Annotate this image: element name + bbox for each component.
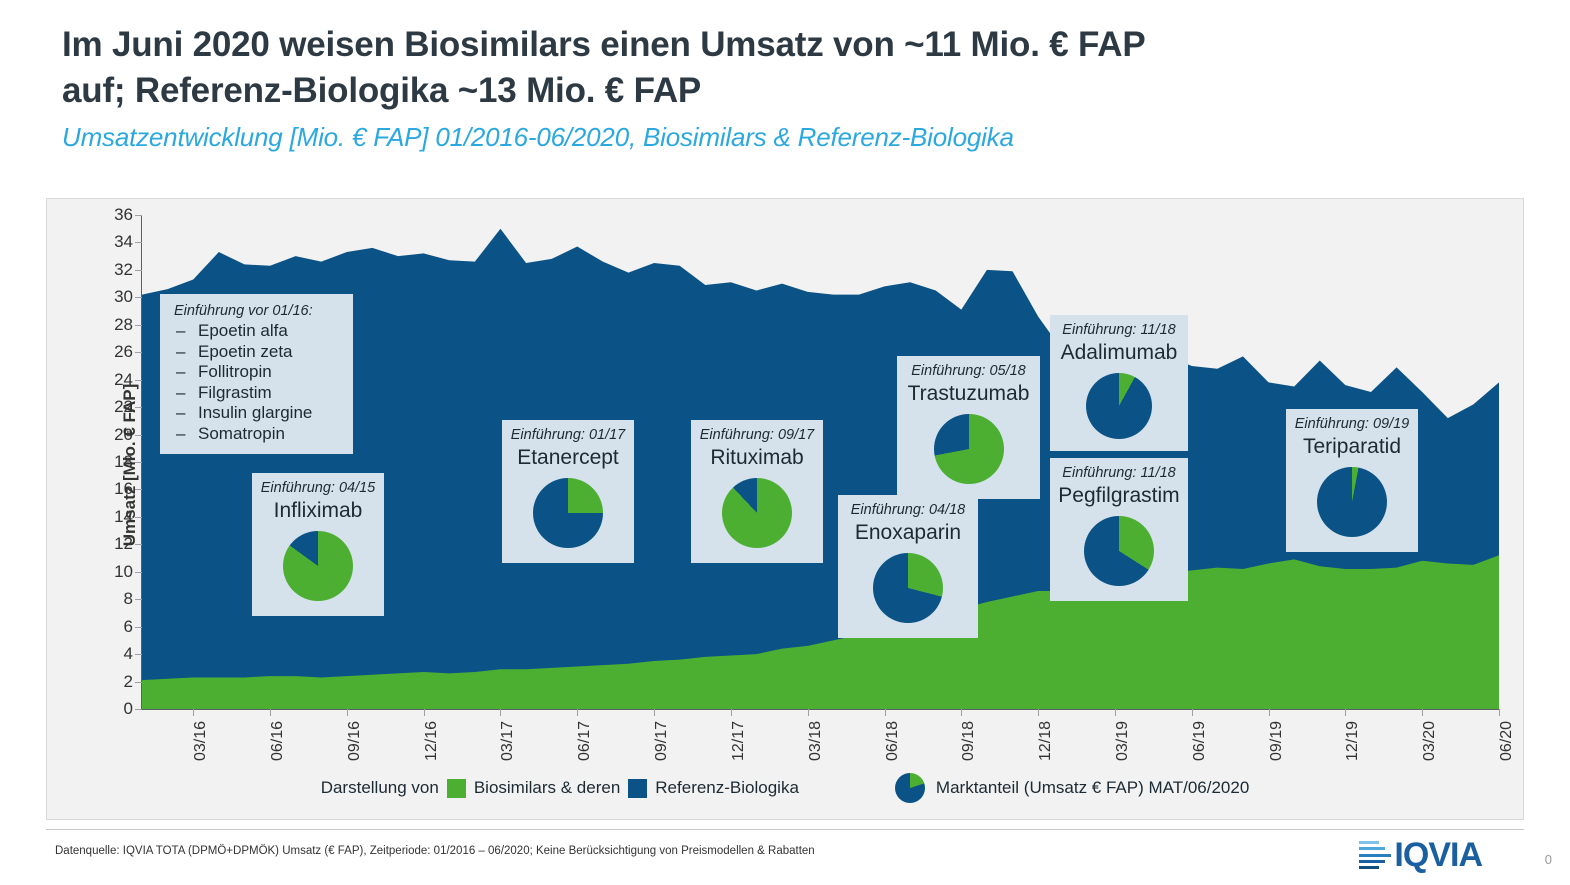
list-item: Epoetin alfa bbox=[174, 321, 339, 342]
x-tick-mark bbox=[1499, 709, 1500, 716]
callout-intro: Einführung: 11/18 bbox=[1062, 322, 1175, 339]
x-tick-label: 03/18 bbox=[807, 721, 825, 761]
y-tick-mark bbox=[135, 599, 142, 600]
x-tick-label: 06/19 bbox=[1191, 721, 1209, 761]
logo-bars-icon bbox=[1359, 840, 1391, 871]
callout-drug-name: Infliximab bbox=[274, 498, 363, 523]
callout-infliximab: Einführung: 04/15Infliximab bbox=[252, 473, 384, 616]
x-tick-label: 03/16 bbox=[192, 721, 210, 761]
y-tick-label: 26 bbox=[114, 342, 133, 362]
x-tick-mark bbox=[347, 709, 348, 716]
market-share-pie-icon bbox=[1084, 516, 1154, 586]
x-tick-label: 09/16 bbox=[346, 721, 364, 761]
x-tick-label: 12/17 bbox=[730, 721, 748, 761]
callout-teriparatid: Einführung: 09/19Teriparatid bbox=[1286, 409, 1418, 552]
legend-label-reference: Referenz-Biologika bbox=[655, 778, 799, 798]
y-tick-mark bbox=[135, 380, 142, 381]
y-tick-label: 14 bbox=[114, 507, 133, 527]
callout-intro: Einführung: 09/17 bbox=[700, 427, 814, 444]
list-item: Epoetin zeta bbox=[174, 342, 339, 363]
list-item: Follitropin bbox=[174, 362, 339, 383]
callout-adalimumab: Einführung: 11/18Adalimumab bbox=[1050, 315, 1188, 451]
callout-intro: Einführung: 09/19 bbox=[1295, 416, 1409, 433]
x-tick-label: 03/17 bbox=[499, 721, 517, 761]
legend-label-marketshare: Marktanteil (Umsatz € FAP) MAT/06/2020 bbox=[936, 778, 1249, 798]
y-tick-label: 24 bbox=[114, 370, 133, 390]
y-tick-mark bbox=[135, 270, 142, 271]
iqvia-logo: IQVIA bbox=[1359, 838, 1482, 872]
legend-prefix: Darstellung von bbox=[321, 778, 439, 798]
y-tick-label: 28 bbox=[114, 315, 133, 335]
callout-drug-name: Teriparatid bbox=[1303, 434, 1401, 459]
x-tick-mark bbox=[654, 709, 655, 716]
x-tick-mark bbox=[1038, 709, 1039, 716]
callout-drug-name: Enoxaparin bbox=[855, 520, 961, 545]
callout-trastuzumab: Einführung: 05/18Trastuzumab bbox=[897, 356, 1040, 499]
y-tick-mark bbox=[135, 654, 142, 655]
y-tick-mark bbox=[135, 325, 142, 326]
market-share-pie-icon bbox=[283, 531, 353, 601]
y-tick-label: 36 bbox=[114, 205, 133, 225]
page-subtitle: Umsatzentwicklung [Mio. € FAP] 01/2016-0… bbox=[62, 122, 1522, 153]
y-tick-mark bbox=[135, 435, 142, 436]
callout-drug-name: Pegfilgrastim bbox=[1058, 483, 1179, 508]
y-tick-label: 2 bbox=[124, 672, 133, 692]
x-tick-mark bbox=[1345, 709, 1346, 716]
callout-pegfilgrastim: Einführung: 11/18Pegfilgrastim bbox=[1050, 458, 1188, 601]
x-tick-mark bbox=[961, 709, 962, 716]
x-tick-mark bbox=[1192, 709, 1193, 716]
y-tick-label: 16 bbox=[114, 479, 133, 499]
callout-intro: Einführung: 11/18 bbox=[1062, 465, 1175, 482]
page-title: Im Juni 2020 weisen Biosimilars einen Um… bbox=[62, 22, 1522, 114]
x-tick-label: 06/16 bbox=[269, 721, 287, 761]
y-tick-label: 30 bbox=[114, 287, 133, 307]
y-tick-label: 10 bbox=[114, 562, 133, 582]
list-item: Insulin glargine bbox=[174, 403, 339, 424]
callout-intro: Einführung: 04/15 bbox=[261, 480, 375, 497]
y-tick-mark bbox=[135, 627, 142, 628]
callout-drug-name: Adalimumab bbox=[1061, 340, 1178, 365]
y-tick-mark bbox=[135, 407, 142, 408]
x-tick-label: 09/18 bbox=[960, 721, 978, 761]
market-share-pie-icon bbox=[873, 553, 943, 623]
x-tick-label: 12/18 bbox=[1037, 721, 1055, 761]
footer-source-note: Datenquelle: IQVIA TOTA (DPMÖ+DPMÖK) Ums… bbox=[55, 845, 815, 857]
market-share-pie-icon bbox=[1086, 373, 1152, 439]
x-tick-mark bbox=[885, 709, 886, 716]
x-tick-mark bbox=[1269, 709, 1270, 716]
y-tick-mark bbox=[135, 709, 142, 710]
callout-enoxaparin: Einführung: 04/18Enoxaparin bbox=[838, 495, 978, 638]
list-item: Filgrastim bbox=[174, 383, 339, 404]
x-tick-mark bbox=[1422, 709, 1423, 716]
legend-swatch-reference bbox=[628, 779, 647, 798]
callout-rituximab: Einführung: 09/17Rituximab bbox=[691, 420, 823, 563]
market-share-pie-icon bbox=[533, 478, 603, 548]
x-tick-label: 06/20 bbox=[1498, 721, 1516, 761]
x-tick-label: 06/18 bbox=[884, 721, 902, 761]
x-tick-label: 03/20 bbox=[1421, 721, 1439, 761]
y-tick-mark bbox=[135, 682, 142, 683]
legend-swatch-biosimilars bbox=[447, 779, 466, 798]
market-share-pie-icon bbox=[934, 414, 1004, 484]
y-tick-label: 6 bbox=[124, 617, 133, 637]
callout-intro: Einführung: 01/17 bbox=[511, 427, 625, 444]
pie-chart-icon bbox=[895, 773, 925, 803]
chart-panel: Umsatz [Mio. € FAP] Einführung vor 01/16… bbox=[46, 198, 1524, 820]
x-tick-mark bbox=[577, 709, 578, 716]
market-share-pie-icon bbox=[722, 478, 792, 548]
logo-wordmark: IQVIA bbox=[1394, 838, 1482, 872]
x-tick-mark bbox=[808, 709, 809, 716]
header: Im Juni 2020 weisen Biosimilars einen Um… bbox=[62, 22, 1522, 154]
y-tick-mark bbox=[135, 462, 142, 463]
legend-marketshare-group: Marktanteil (Umsatz € FAP) MAT/06/2020 bbox=[895, 773, 1249, 803]
x-tick-label: 06/17 bbox=[576, 721, 594, 761]
x-tick-label: 12/19 bbox=[1344, 721, 1362, 761]
y-tick-label: 0 bbox=[124, 699, 133, 719]
x-tick-label: 09/17 bbox=[653, 721, 671, 761]
callout-intro: Einführung vor 01/16: bbox=[174, 303, 339, 319]
x-axis-line bbox=[141, 709, 1500, 710]
callout-intro: Einführung: 05/18 bbox=[911, 363, 1025, 380]
x-tick-mark bbox=[424, 709, 425, 716]
callout-drug-name: Trastuzumab bbox=[908, 381, 1030, 406]
y-tick-mark bbox=[135, 544, 142, 545]
page-number: 0 bbox=[1545, 852, 1552, 867]
y-tick-mark bbox=[135, 352, 142, 353]
x-tick-label: 12/16 bbox=[423, 721, 441, 761]
y-tick-mark bbox=[135, 215, 142, 216]
plot-frame: Umsatz [Mio. € FAP] Einführung vor 01/16… bbox=[142, 215, 1499, 709]
x-tick-label: 09/19 bbox=[1268, 721, 1286, 761]
y-tick-label: 20 bbox=[114, 425, 133, 445]
y-tick-label: 4 bbox=[124, 644, 133, 664]
x-tick-label: 03/19 bbox=[1114, 721, 1132, 761]
footer-divider bbox=[46, 829, 1524, 830]
y-tick-label: 34 bbox=[114, 232, 133, 252]
x-tick-mark bbox=[193, 709, 194, 716]
y-tick-label: 12 bbox=[114, 534, 133, 554]
y-tick-mark bbox=[135, 517, 142, 518]
chart-legend: Darstellung von Biosimilars & deren Refe… bbox=[47, 773, 1523, 803]
y-tick-mark bbox=[135, 242, 142, 243]
list-item: Somatropin bbox=[174, 424, 339, 445]
callout-drug-name: Etanercept bbox=[517, 445, 619, 470]
y-tick-label: 8 bbox=[124, 589, 133, 609]
y-tick-mark bbox=[135, 297, 142, 298]
y-tick-mark bbox=[135, 489, 142, 490]
y-tick-label: 32 bbox=[114, 260, 133, 280]
legend-label-biosimilars: Biosimilars & deren bbox=[474, 778, 620, 798]
market-share-pie-icon bbox=[1317, 467, 1387, 537]
callout-etanercept: Einführung: 01/17Etanercept bbox=[502, 420, 634, 563]
x-tick-mark bbox=[270, 709, 271, 716]
x-tick-mark bbox=[1115, 709, 1116, 716]
callout-drug-list: Epoetin alfa Epoetin zeta Follitropin Fi… bbox=[174, 321, 339, 444]
y-tick-mark bbox=[135, 572, 142, 573]
y-tick-label: 18 bbox=[114, 452, 133, 472]
callout-pre-2016: Einführung vor 01/16: Epoetin alfa Epoet… bbox=[160, 294, 353, 454]
legend-series-group: Darstellung von Biosimilars & deren Refe… bbox=[321, 778, 799, 798]
x-tick-mark bbox=[731, 709, 732, 716]
callout-intro: Einführung: 04/18 bbox=[851, 502, 965, 519]
y-tick-label: 22 bbox=[114, 397, 133, 417]
x-tick-mark bbox=[500, 709, 501, 716]
callout-drug-name: Rituximab bbox=[710, 445, 803, 470]
